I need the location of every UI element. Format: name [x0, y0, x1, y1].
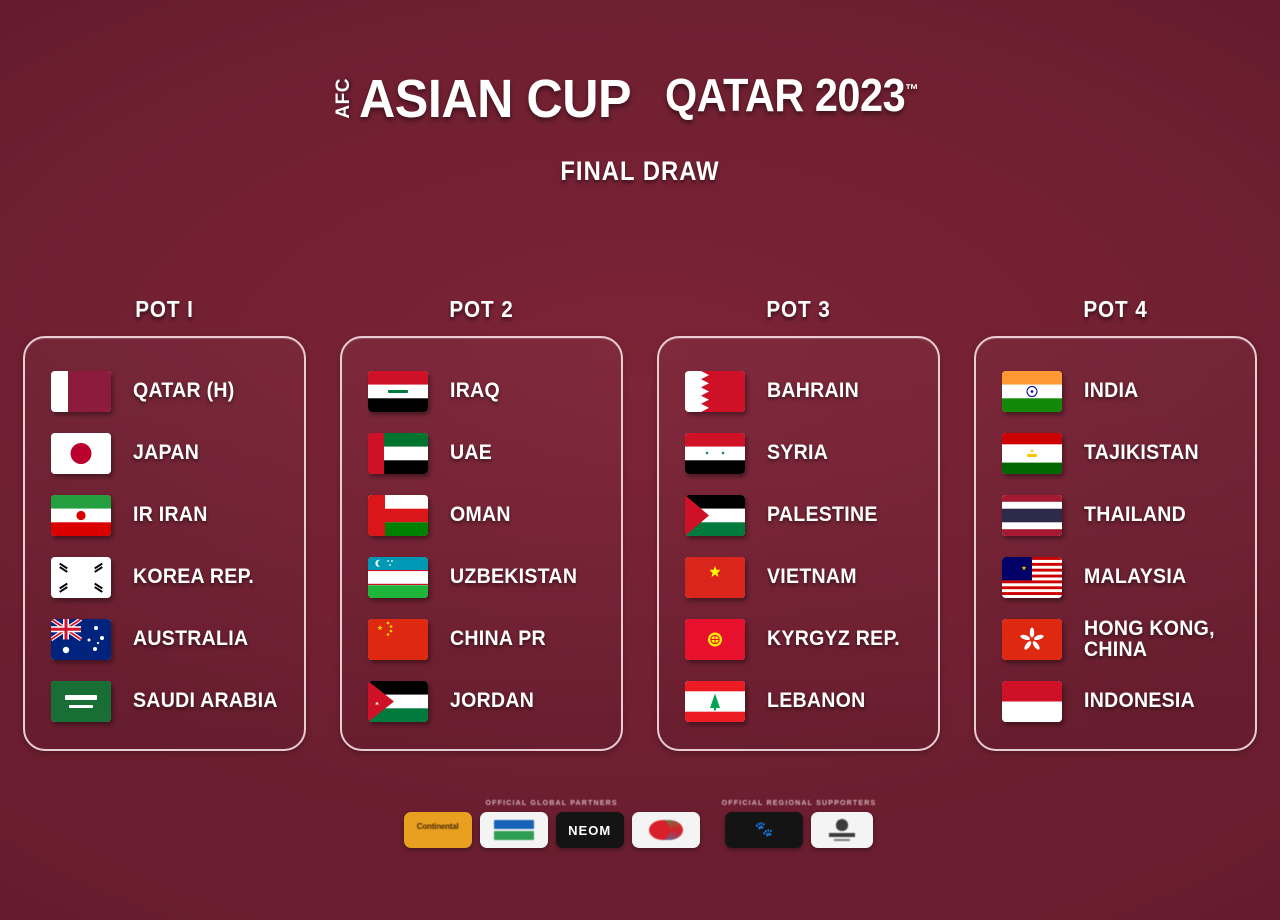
china-flag — [368, 619, 428, 660]
pot-2-title: POT 2 — [354, 296, 609, 323]
saudi-arabia-flag — [51, 681, 111, 722]
team-name: PALESTINE — [767, 504, 878, 525]
sponsor-group-regional: OFFICIAL REGIONAL SUPPORTERS 🐾 — [722, 800, 877, 848]
sponsor-group-global: OFFICIAL GLOBAL PARTNERS Continental NEO… — [404, 800, 700, 848]
team-name: INDONESIA — [1084, 690, 1195, 711]
team-row[interactable]: IR IRAN — [25, 484, 304, 546]
palestine-flag — [685, 495, 745, 536]
japan-flag — [51, 433, 111, 474]
team-name: UAE — [450, 442, 492, 463]
pot-4-title: POT 4 — [988, 296, 1243, 323]
sponsor-logo-neom[interactable]: NEOM — [556, 812, 624, 848]
team-name: VIETNAM — [767, 566, 857, 587]
pot-1-card: QATAR (H) JAPAN IR IRAN KOREA REP. — [23, 336, 306, 751]
team-row[interactable]: KYRGYZ REP. — [659, 608, 938, 670]
vietnam-flag — [685, 557, 745, 598]
syria-flag — [685, 433, 745, 474]
malaysia-flag — [1002, 557, 1062, 598]
team-name: OMAN — [450, 504, 511, 525]
tajikistan-flag — [1002, 433, 1062, 474]
team-row[interactable]: AUSTRALIA — [25, 608, 304, 670]
team-row[interactable]: HONG KONG, CHINA — [976, 608, 1255, 670]
pot-1-title: POT I — [37, 296, 292, 323]
sponsor-logo-emblem-sub-bar — [834, 839, 850, 841]
sponsor-bar: OFFICIAL GLOBAL PARTNERS Continental NEO… — [0, 800, 1280, 848]
team-name: KOREA REP. — [133, 566, 254, 587]
trademark-symbol: ™ — [905, 82, 918, 99]
pot-1: POT I QATAR (H) JAPAN IR IRAN — [23, 296, 306, 751]
event-title: AFC ASIAN CUP QATAR 2023™ — [0, 72, 1280, 126]
team-name: SAUDI ARABIA — [133, 690, 278, 711]
team-name: IR IRAN — [133, 504, 208, 525]
team-row[interactable]: JORDAN — [342, 670, 621, 732]
team-row[interactable]: INDIA — [976, 360, 1255, 422]
sponsor-tiles-global: Continental NEOM — [404, 812, 700, 848]
team-name: SYRIA — [767, 442, 828, 463]
sponsor-logo-paw[interactable]: 🐾 — [725, 812, 803, 848]
sponsor-logo-tile-4[interactable] — [632, 812, 700, 848]
sponsor-logo-tile-2[interactable] — [480, 812, 548, 848]
team-name: MALAYSIA — [1084, 566, 1186, 587]
title-main: ASIAN CUP — [359, 72, 631, 126]
jordan-flag — [368, 681, 428, 722]
team-name: JAPAN — [133, 442, 199, 463]
team-row[interactable]: SYRIA — [659, 422, 938, 484]
australia-flag — [51, 619, 111, 660]
oman-flag — [368, 495, 428, 536]
sponsor-tiles-regional: 🐾 — [725, 812, 873, 848]
team-name: THAILAND — [1084, 504, 1186, 525]
team-row[interactable]: KOREA REP. — [25, 546, 304, 608]
team-row[interactable]: TAJIKISTAN — [976, 422, 1255, 484]
sponsor-logo-emblem-label-bar — [829, 833, 855, 837]
team-row[interactable]: THAILAND — [976, 484, 1255, 546]
team-row[interactable]: INDONESIA — [976, 670, 1255, 732]
sponsor-logo-tile-2-mark-top — [494, 820, 534, 829]
team-name: HONG KONG, CHINA — [1084, 618, 1215, 661]
team-row[interactable]: OMAN — [342, 484, 621, 546]
emblem-icon — [836, 819, 848, 831]
title-sub: QATAR 2023™ — [665, 72, 918, 118]
uzbekistan-flag — [368, 557, 428, 598]
team-row[interactable]: SAUDI ARABIA — [25, 670, 304, 732]
united-arab-emirates-flag — [368, 433, 428, 474]
pot-2: POT 2 IRAQ UAE OMAN — [340, 296, 623, 751]
team-name: KYRGYZ REP. — [767, 628, 900, 649]
pot-3-title: POT 3 — [671, 296, 926, 323]
team-row[interactable]: VIETNAM — [659, 546, 938, 608]
team-row[interactable]: BAHRAIN — [659, 360, 938, 422]
pot-3: POT 3 BAHRAIN SYRIA PALESTINE — [657, 296, 940, 751]
team-row[interactable]: QATAR (H) — [25, 360, 304, 422]
team-row[interactable]: CHINA PR — [342, 608, 621, 670]
sponsor-logo-tile-4-mark — [649, 820, 683, 840]
pot-2-card: IRAQ UAE OMAN UZBEKISTAN — [340, 336, 623, 751]
team-name: INDIA — [1084, 380, 1139, 401]
sponsor-group-regional-caption: OFFICIAL REGIONAL SUPPORTERS — [722, 800, 877, 807]
kyrgyzstan-flag — [685, 619, 745, 660]
page-title: FINAL DRAW — [77, 156, 1203, 187]
team-name: TAJIKISTAN — [1084, 442, 1199, 463]
title-sub-text: QATAR 2023 — [665, 69, 905, 121]
sponsor-logo-emblem[interactable] — [811, 812, 873, 848]
afc-logo: AFC — [334, 78, 353, 119]
korea-republic-flag — [51, 557, 111, 598]
team-name: BAHRAIN — [767, 380, 859, 401]
team-name: AUSTRALIA — [133, 628, 248, 649]
pot-4-card: INDIA TAJIKISTAN THAILAND MALAYSIA — [974, 336, 1257, 751]
team-name: IRAQ — [450, 380, 500, 401]
team-row[interactable]: LEBANON — [659, 670, 938, 732]
team-name: QATAR (H) — [133, 380, 235, 401]
pot-4: POT 4 INDIA TAJIKISTAN THAILAND — [974, 296, 1257, 751]
pots-container: POT I QATAR (H) JAPAN IR IRAN — [0, 296, 1280, 751]
team-name: LEBANON — [767, 690, 866, 711]
india-flag — [1002, 371, 1062, 412]
team-row[interactable]: UZBEKISTAN — [342, 546, 621, 608]
qatar-flag — [51, 371, 111, 412]
team-row[interactable]: PALESTINE — [659, 484, 938, 546]
pot-3-card: BAHRAIN SYRIA PALESTINE VIETNAM — [657, 336, 940, 751]
team-name: CHINA PR — [450, 628, 546, 649]
sponsor-logo-neom-label: NEOM — [568, 823, 611, 838]
sponsor-logo-continental-label: Continental — [417, 822, 459, 831]
page-header: AFC ASIAN CUP QATAR 2023™ FINAL DRAW — [0, 0, 1280, 187]
iran-flag — [51, 495, 111, 536]
team-row[interactable]: JAPAN — [25, 422, 304, 484]
sponsor-group-global-caption: OFFICIAL GLOBAL PARTNERS — [486, 800, 618, 807]
team-row[interactable]: IRAQ — [342, 360, 621, 422]
lebanon-flag — [685, 681, 745, 722]
sponsor-logo-tile-2-mark-bottom — [494, 831, 534, 840]
team-row[interactable]: UAE — [342, 422, 621, 484]
indonesia-flag — [1002, 681, 1062, 722]
team-name: JORDAN — [450, 690, 534, 711]
bahrain-flag — [685, 371, 745, 412]
team-row[interactable]: MALAYSIA — [976, 546, 1255, 608]
team-name: UZBEKISTAN — [450, 566, 577, 587]
paw-icon: 🐾 — [755, 822, 774, 837]
hong-kong-flag — [1002, 619, 1062, 660]
sponsor-logo-continental[interactable]: Continental — [404, 812, 472, 848]
thailand-flag — [1002, 495, 1062, 536]
iraq-flag — [368, 371, 428, 412]
